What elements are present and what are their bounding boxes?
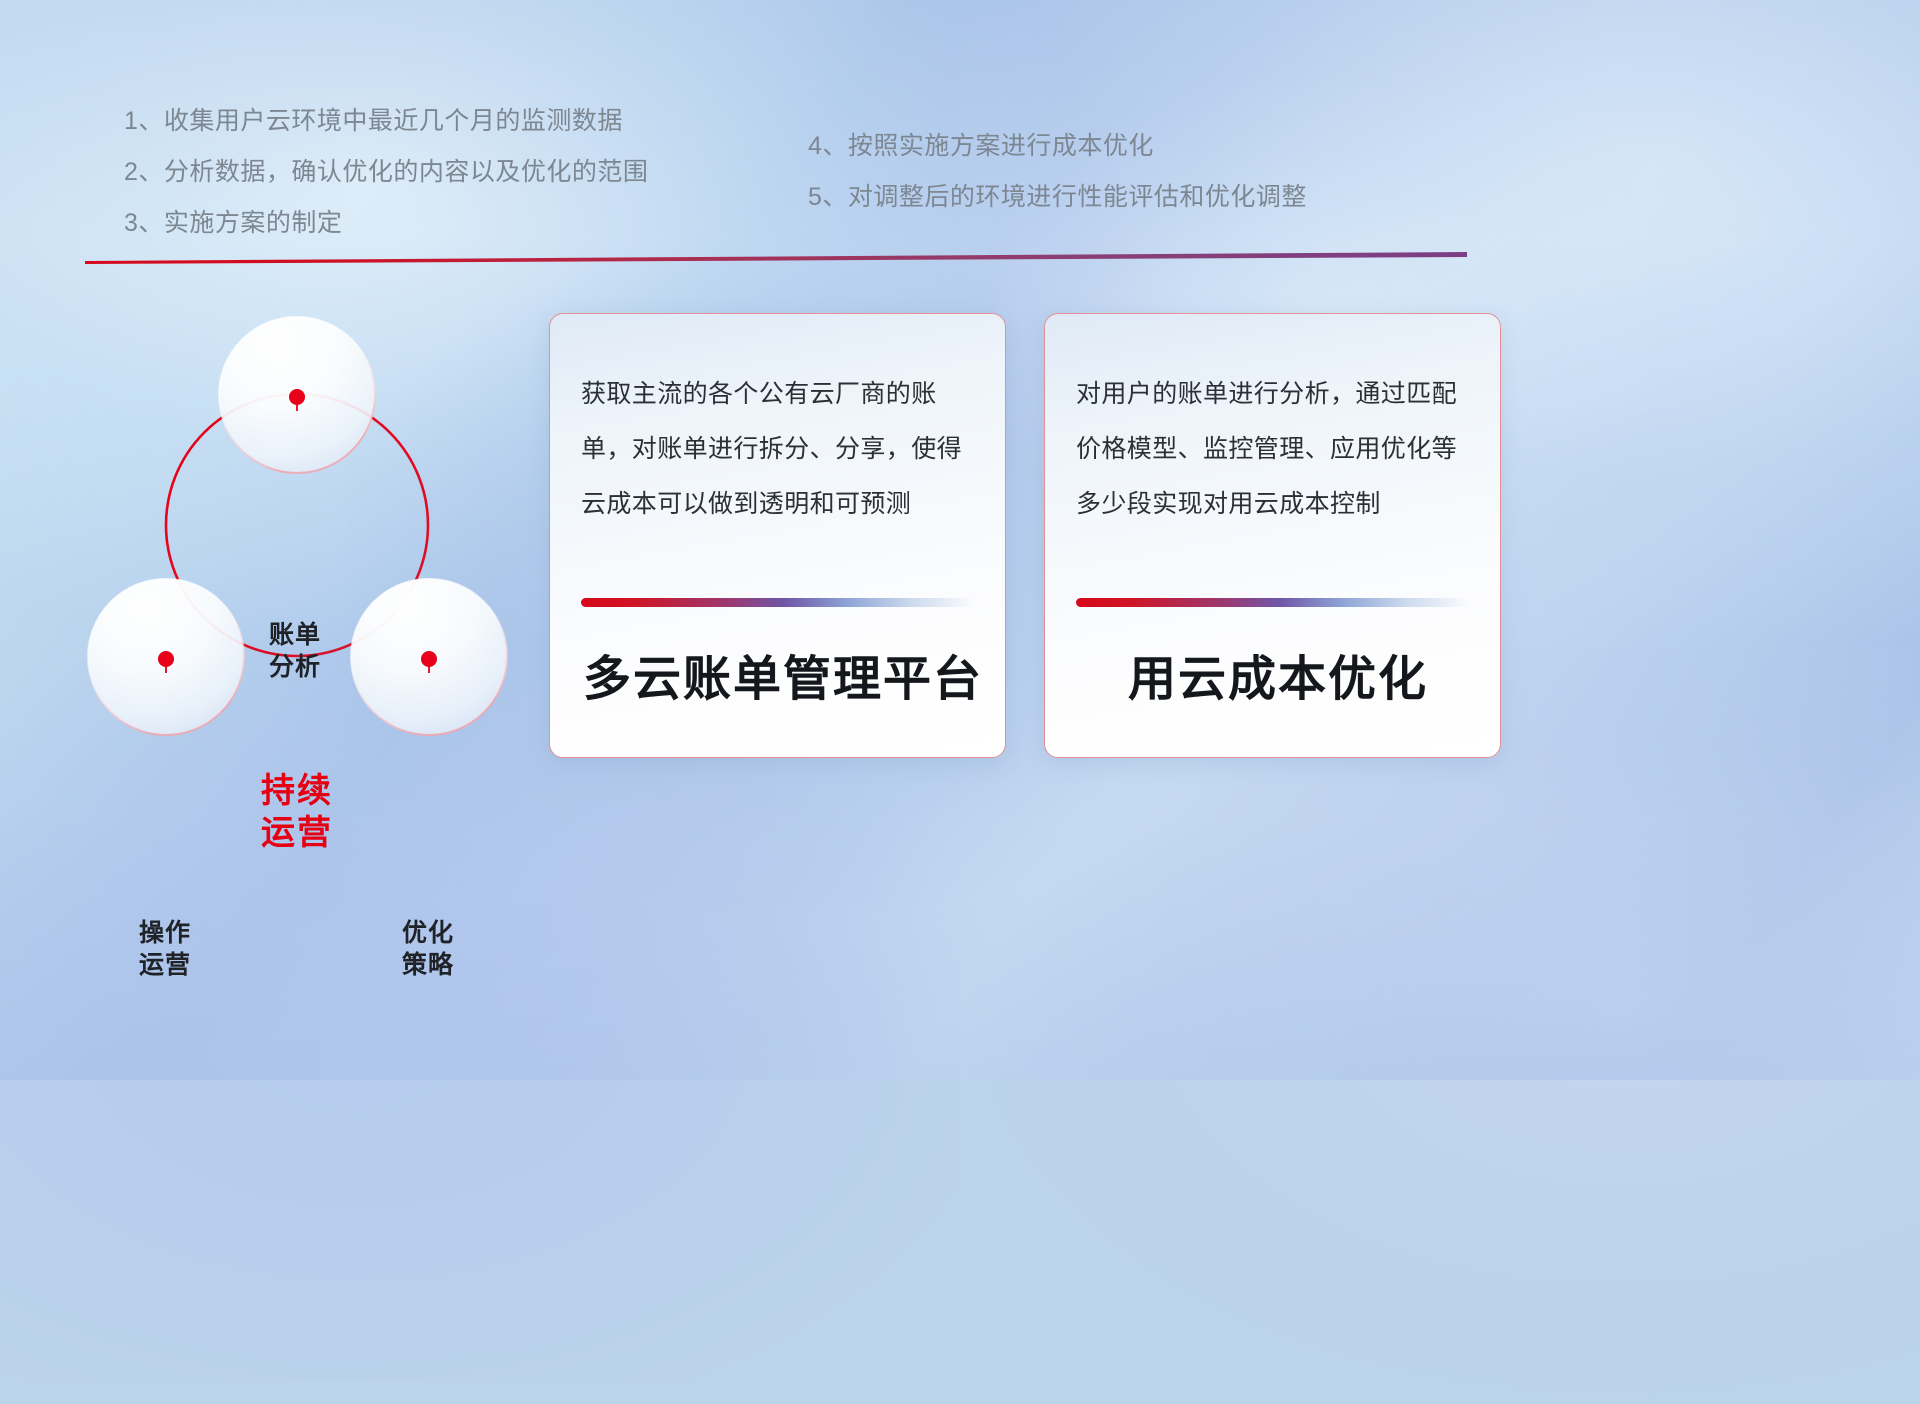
venn-label-line-1: 操作: [85, 917, 245, 949]
venn-center-label: 持续 运营: [207, 770, 387, 854]
venn-label-line-1: 优化: [348, 917, 508, 949]
venn-node-dot-left: [158, 651, 174, 667]
venn-node-dot-top: [289, 389, 305, 405]
venn-label-line-2: 分析: [215, 651, 375, 683]
section-divider: [85, 252, 1467, 264]
step-item-4: 4、按照实施方案进行成本优化: [808, 126, 1154, 162]
step-item-5: 5、对调整后的环境进行性能评估和优化调整: [808, 177, 1307, 213]
venn-label-line-2: 策略: [348, 949, 508, 981]
step-item-2: 2、分析数据，确认优化的内容以及优化的范围: [124, 152, 648, 188]
venn-label-operation-ops: 操作 运营: [85, 917, 245, 981]
venn-label-optimize-policy: 优化 策略: [348, 917, 508, 981]
venn-label-line-2: 运营: [85, 949, 245, 981]
card-multi-cloud-billing-platform[interactable]: 获取主流的各个公有云厂商的账单，对账单进行拆分、分享，使得云成本可以做到透明和可…: [549, 313, 1006, 758]
card-title: 用云成本优化: [1076, 639, 1480, 709]
step-item-1: 1、收集用户云环境中最近几个月的监测数据: [124, 101, 623, 137]
venn-center-line-1: 持续: [207, 770, 387, 812]
card-accent-rule: [1076, 598, 1469, 607]
card-cloud-cost-optimization[interactable]: 对用户的账单进行分析，通过匹配价格模型、监控管理、应用优化等多少段实现对用云成本…: [1044, 313, 1501, 758]
step-item-3: 3、实施方案的制定: [124, 203, 342, 239]
venn-svg: [80, 285, 540, 775]
venn-diagram: 账单 分析 操作 运营 优化 策略 持续 运营: [80, 285, 540, 775]
venn-node-dot-right: [421, 651, 437, 667]
venn-label-billing-analysis: 账单 分析: [215, 619, 375, 683]
venn-label-line-1: 账单: [215, 619, 375, 651]
card-body-text: 获取主流的各个公有云厂商的账单，对账单进行拆分、分享，使得云成本可以做到透明和可…: [581, 367, 979, 532]
venn-center-line-2: 运营: [207, 812, 387, 854]
card-accent-rule: [581, 598, 974, 607]
process-steps: 1、收集用户云环境中最近几个月的监测数据 2、分析数据，确认优化的内容以及优化的…: [0, 0, 1920, 250]
card-body-text: 对用户的账单进行分析，通过匹配价格模型、监控管理、应用优化等多少段实现对用云成本…: [1076, 367, 1474, 532]
card-title: 多云账单管理平台: [581, 639, 985, 709]
